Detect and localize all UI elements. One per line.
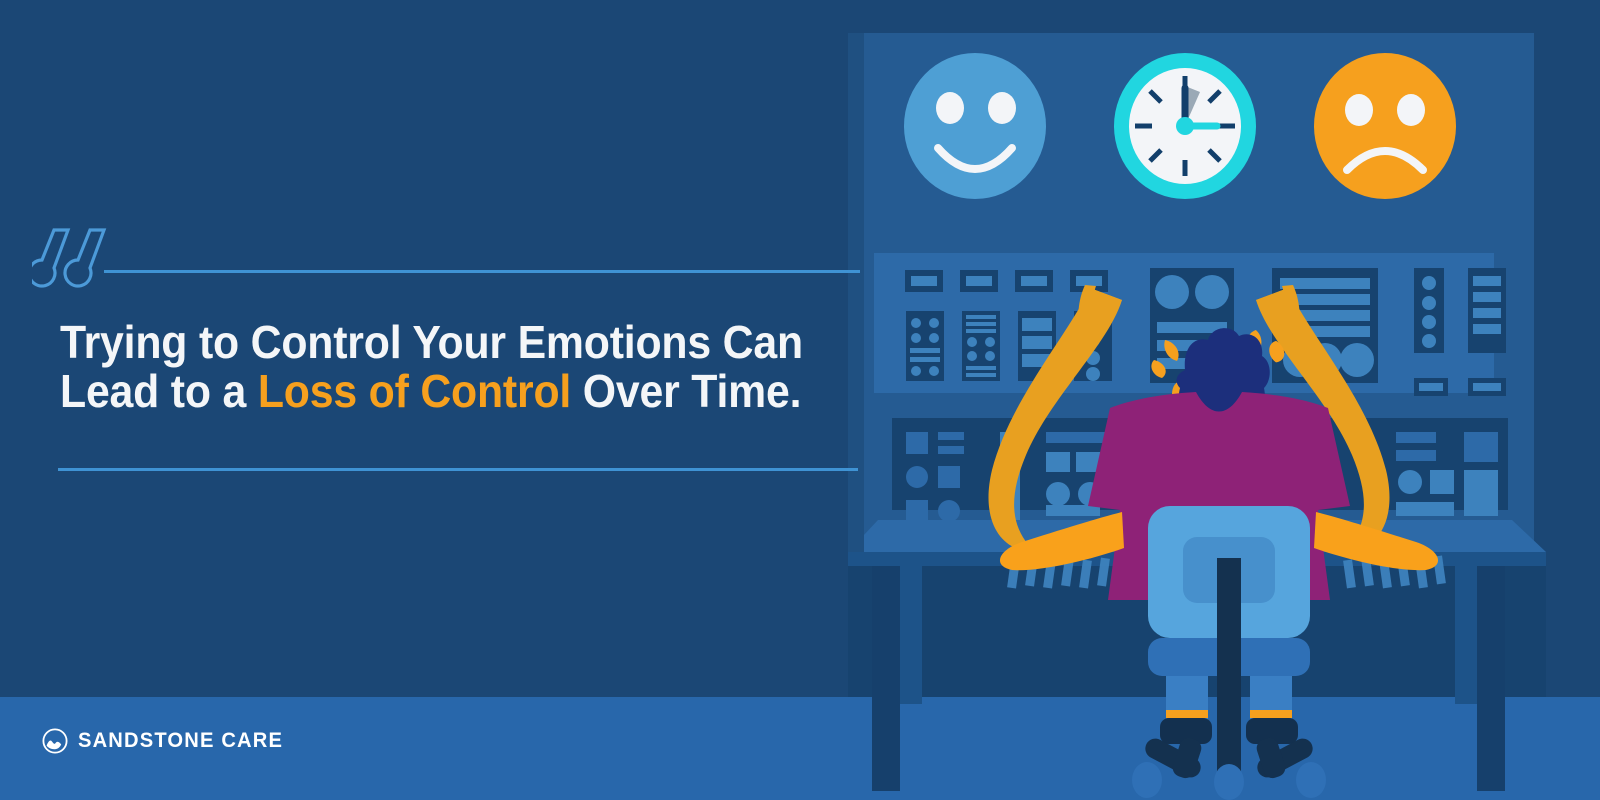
sandstone-mountain-circle-icon <box>42 728 68 754</box>
desk-leg-right <box>1477 566 1505 791</box>
desk-brace-left <box>900 566 922 704</box>
headline: Trying to Control Your Emotions Can Lead… <box>60 318 804 416</box>
headline-line-2-post: Over Time. <box>571 365 801 417</box>
headline-line-2-pre: Lead to a <box>60 365 258 417</box>
quote-open-icon <box>32 228 110 290</box>
caster-left <box>1132 762 1162 798</box>
headline-highlight: Loss of Control <box>258 365 571 417</box>
quote-rule-top <box>104 270 860 273</box>
wall-frame-left <box>848 33 864 552</box>
quote-rule-bottom <box>58 468 858 471</box>
caster-center <box>1214 764 1244 800</box>
chair-base <box>1132 730 1326 800</box>
brand-logo-text: SANDSTONE CARE <box>78 729 283 753</box>
desk-leg-left <box>872 566 900 791</box>
brand-logo[interactable]: SANDSTONE CARE <box>42 728 292 754</box>
desk-brace-right <box>1455 566 1477 704</box>
poster-canvas: Trying to Control Your Emotions Can Lead… <box>0 0 1600 800</box>
panel-module-a <box>906 311 944 381</box>
office-chair <box>1132 506 1326 800</box>
chair-post <box>1217 558 1241 756</box>
clock-icon <box>1114 53 1256 199</box>
panel-module-b <box>962 311 1000 381</box>
happy-face-icon <box>904 53 1046 199</box>
caster-right <box>1296 762 1326 798</box>
headline-line-1: Trying to Control Your Emotions Can <box>60 316 803 368</box>
sad-face-icon <box>1314 53 1456 199</box>
